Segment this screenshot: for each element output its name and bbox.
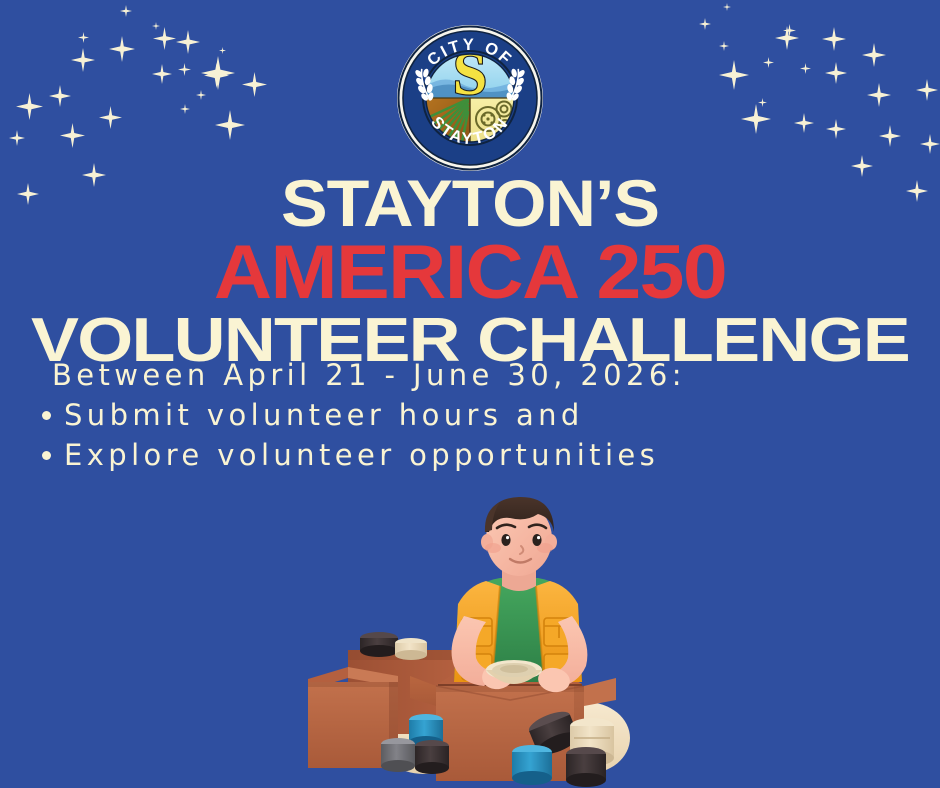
star-icon: [916, 79, 938, 101]
volunteer-packing-illustration: [286, 486, 666, 788]
star-icon: [9, 130, 25, 146]
star-icon: [180, 104, 190, 114]
can-black-front: [566, 747, 606, 787]
star-icon: [49, 85, 71, 107]
star-icon: [719, 60, 749, 90]
list-item: Explore volunteer opportunities: [0, 438, 940, 472]
star-icon: [775, 26, 799, 50]
star-icon: [201, 56, 235, 90]
star-icon: [794, 113, 814, 133]
star-icon: [719, 41, 729, 51]
star-icon: [178, 63, 191, 76]
star-icon: [763, 57, 774, 68]
star-icon: [699, 18, 711, 30]
star-icon: [16, 93, 43, 120]
city-of-stayton-seal: S: [396, 24, 544, 172]
star-icon: [723, 3, 731, 11]
headline-line-stayton: STAYTON’S: [0, 172, 940, 235]
star-icon: [78, 32, 89, 43]
star-icon: [741, 104, 771, 134]
star-icon: [242, 72, 267, 97]
star-icon: [60, 123, 85, 148]
star-icon: [176, 30, 200, 54]
star-icon: [862, 43, 886, 67]
can-black-top: [360, 632, 398, 657]
star-icon: [71, 48, 95, 72]
body-copy: Between April 21 - June 30, 2026: Submit…: [0, 358, 940, 472]
star-icon: [758, 98, 767, 107]
star-icon: [153, 27, 176, 50]
can-gray-left: [381, 738, 415, 772]
can-black-left: [415, 740, 449, 774]
list-item: Submit volunteer hours and: [0, 398, 940, 432]
star-icon: [800, 63, 811, 74]
star-icon: [920, 134, 940, 154]
poster-canvas: S: [0, 0, 940, 788]
page-title: STAYTON’S AMERICA 250 VOLUNTEER CHALLENG…: [0, 172, 940, 371]
date-range-line: Between April 21 - June 30, 2026:: [0, 358, 940, 392]
star-icon: [152, 22, 160, 30]
star-icon: [109, 36, 135, 62]
star-icon: [826, 119, 846, 139]
star-icon: [879, 125, 901, 147]
star-icon: [204, 63, 229, 88]
star-icon: [215, 110, 245, 140]
star-icon: [99, 106, 122, 129]
star-icon: [783, 24, 796, 37]
star-icon: [152, 64, 172, 84]
star-icon: [196, 90, 206, 100]
star-icon: [867, 83, 891, 107]
star-icon: [822, 27, 846, 51]
star-icon: [120, 5, 132, 17]
star-icon: [219, 47, 226, 54]
can-teal-front: [512, 745, 552, 785]
headline-line-america-250: AMERICA 250: [0, 237, 940, 309]
can-cream-top: [395, 638, 427, 660]
instruction-list: Submit volunteer hours and Explore volun…: [0, 398, 940, 472]
star-icon: [825, 62, 847, 84]
